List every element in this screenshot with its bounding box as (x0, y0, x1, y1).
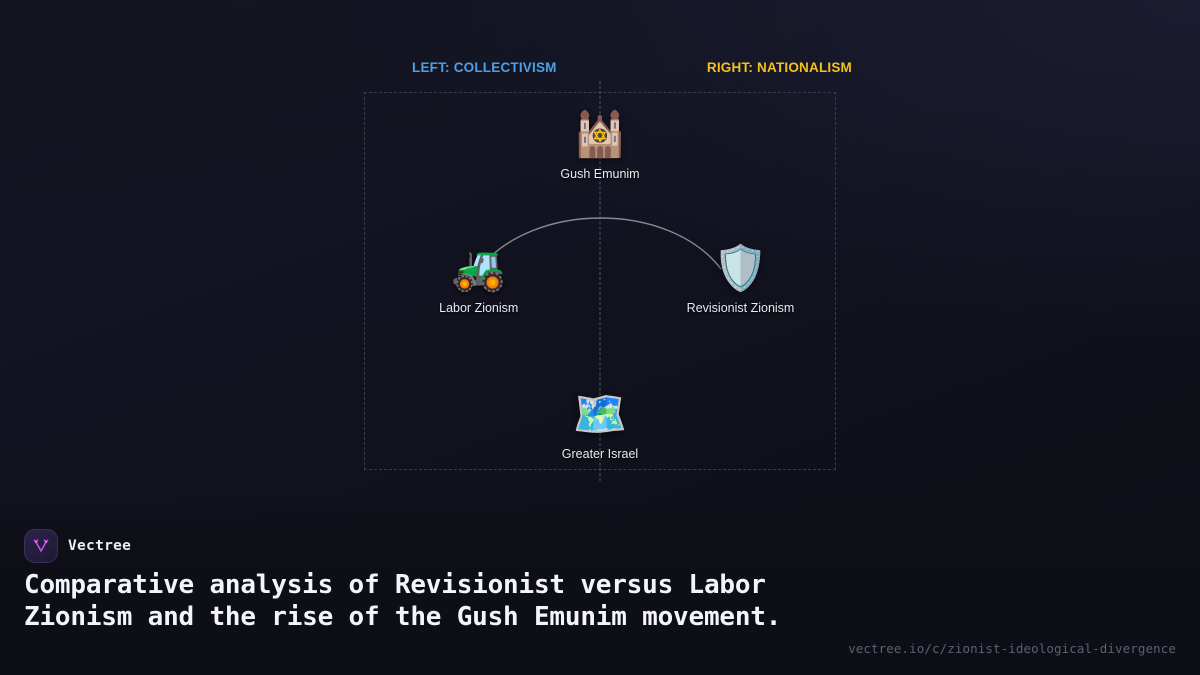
axis-captions: LEFT: COLLECTIVISM RIGHT: NATIONALISM (364, 60, 836, 82)
synagogue-icon: 🕍 (573, 109, 628, 161)
node-label: Gush Emunim (560, 167, 639, 181)
tractor-icon: 🚜 (451, 243, 506, 295)
vectree-logo-icon (24, 529, 58, 563)
headline: Comparative analysis of Revisionist vers… (24, 569, 834, 633)
node-greater-israel[interactable]: 🗺️ Greater Israel (490, 389, 710, 461)
node-label: Revisionist Zionism (687, 301, 795, 315)
screenshot-root: LEFT: COLLECTIVISM RIGHT: NATIONALISM 🕍 … (0, 0, 1200, 675)
axis-caption-left: LEFT: COLLECTIVISM (412, 60, 557, 75)
footer: Vectree Comparative analysis of Revision… (0, 497, 1200, 675)
ideology-plot-frame: 🕍 Gush Emunim 🚜 Labor Zionism 🛡️ Revisio… (364, 92, 836, 470)
axis-caption-right: RIGHT: NATIONALISM (707, 60, 852, 75)
source-url: vectree.io/c/zionist-ideological-diverge… (848, 641, 1176, 656)
node-labor-zionism[interactable]: 🚜 Labor Zionism (369, 243, 589, 315)
node-label: Labor Zionism (439, 301, 518, 315)
node-label: Greater Israel (562, 447, 638, 461)
world-map-icon: 🗺️ (573, 389, 628, 441)
brand[interactable]: Vectree (24, 529, 131, 563)
shield-icon: 🛡️ (713, 243, 768, 295)
node-revisionist-zionism[interactable]: 🛡️ Revisionist Zionism (631, 243, 851, 315)
node-gush-emunim[interactable]: 🕍 Gush Emunim (490, 109, 710, 181)
brand-name: Vectree (68, 538, 131, 554)
